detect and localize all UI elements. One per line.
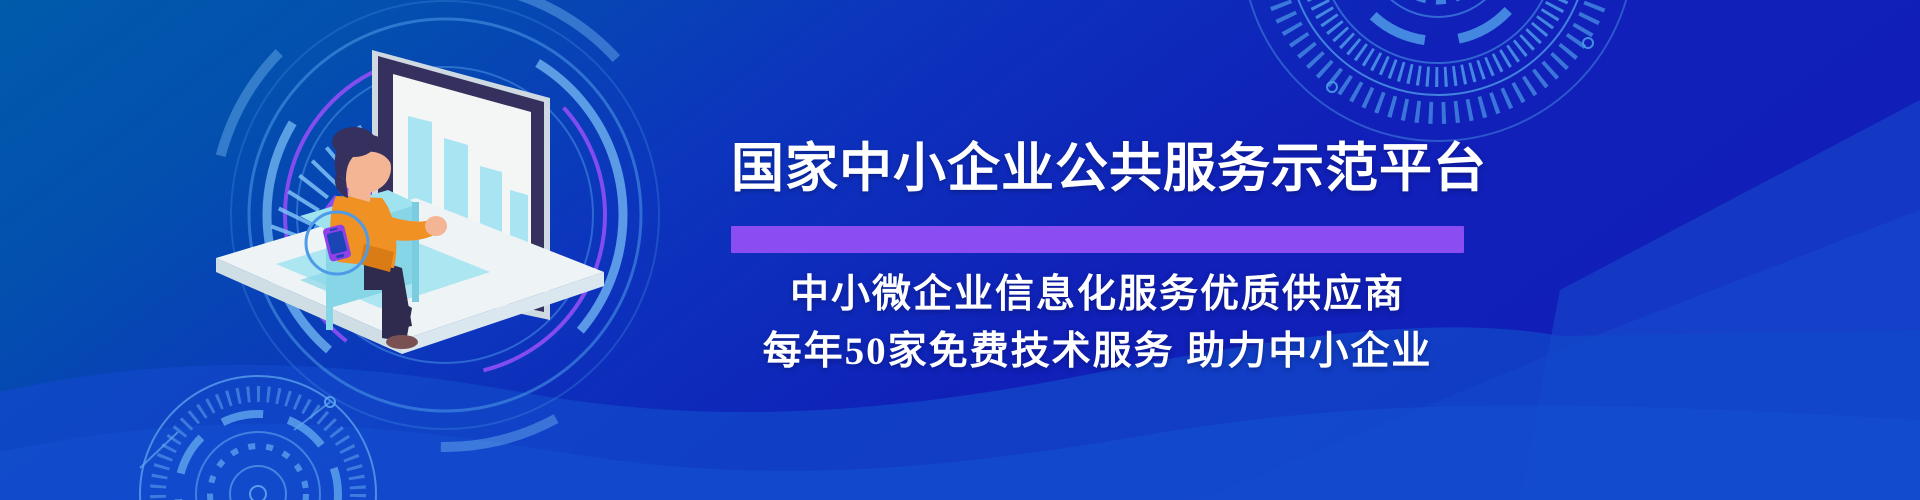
hud-circle-top-right xyxy=(1242,0,1634,141)
diagonal-panel xyxy=(1520,100,1920,500)
banner-text-block: 国家中小企业公共服务示范平台 中小微企业信息化服务优质供应商 每年50家免费技术… xyxy=(731,140,1491,380)
banner-subtitle-2: 每年50家免费技术服务 助力中小企业 xyxy=(731,323,1464,380)
banner-title: 国家中小企业公共服务示范平台 xyxy=(731,140,1491,198)
illustration-svg xyxy=(150,0,690,410)
bottom-wave-shape-2 xyxy=(0,405,1920,500)
isometric-laptop-illustration xyxy=(150,0,690,410)
promo-banner: 国家中小企业公共服务示范平台 中小微企业信息化服务优质供应商 每年50家免费技术… xyxy=(0,0,1920,500)
title-divider-bar xyxy=(731,226,1464,253)
banner-subtitle-1: 中小微企业信息化服务优质供应商 xyxy=(731,266,1464,323)
banner-subtitles: 中小微企业信息化服务优质供应商 每年50家免费技术服务 助力中小企业 xyxy=(731,266,1464,380)
